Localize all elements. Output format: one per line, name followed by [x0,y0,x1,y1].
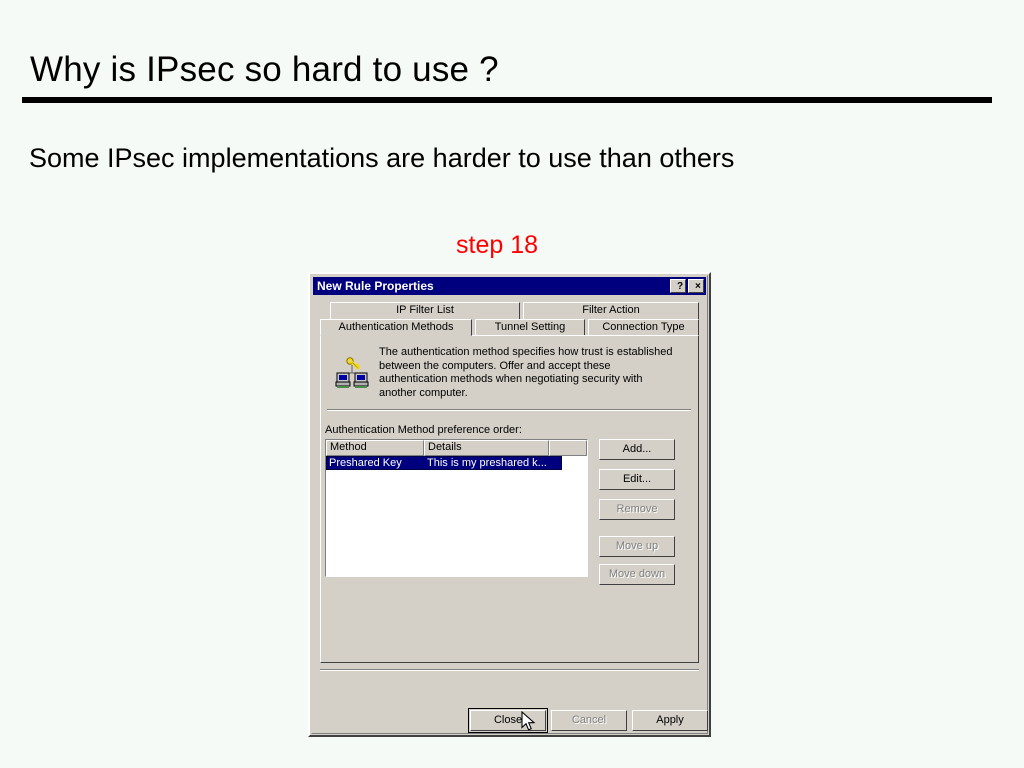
add-button[interactable]: Add... [599,439,675,460]
tab-tunnel-setting[interactable]: Tunnel Setting [475,319,585,336]
bottom-separator [320,669,699,671]
step-label: step 18 [456,231,538,260]
move-down-button[interactable]: Move down [599,564,675,585]
slide-subtitle: Some IPsec implementations are harder to… [29,143,734,174]
remove-button[interactable]: Remove [599,499,675,520]
close-button[interactable]: Close [470,710,546,731]
dialog-title-text: New Rule Properties [317,279,434,293]
tab-filter-action[interactable]: Filter Action [523,302,699,319]
table-row[interactable]: Preshared Key This is my preshared k... [326,456,562,470]
tab-connection-type[interactable]: Connection Type [588,319,699,336]
page-title: Why is IPsec so hard to use ? [30,50,499,90]
cell-method: Preshared Key [326,456,424,470]
edit-button[interactable]: Edit... [599,469,675,490]
column-header-method[interactable]: Method [326,440,424,456]
move-up-button[interactable]: Move up [599,536,675,557]
new-rule-properties-dialog: New Rule Properties ? × IP Filter List F… [308,272,711,737]
description-area: The authentication method specifies how … [335,346,685,400]
tabstrip: IP Filter List Filter Action Authenticat… [320,302,699,336]
column-header-details[interactable]: Details [424,440,549,456]
two-computers-with-key-icon [335,356,369,390]
title-divider [22,97,992,103]
dialog-titlebar[interactable]: New Rule Properties ? × [313,277,706,295]
description-separator [327,409,691,411]
listview-header: Method Details [326,440,587,456]
description-text: The authentication method specifies how … [379,346,679,400]
authentication-method-listview[interactable]: Method Details Preshared Key This is my … [325,439,588,577]
help-icon[interactable]: ? [670,279,686,293]
tab-page-authentication-methods: The authentication method specifies how … [320,335,699,663]
titlebar-button-group: ? × [670,279,704,293]
column-header-blank[interactable] [549,440,587,456]
cancel-button[interactable]: Cancel [551,710,627,731]
apply-button[interactable]: Apply [632,710,708,731]
tab-row-bottom: Authentication Methods Tunnel Setting Co… [320,319,699,336]
tab-authentication-methods[interactable]: Authentication Methods [320,319,472,336]
tab-ip-filter-list[interactable]: IP Filter List [330,302,520,319]
list-label: Authentication Method preference order: [325,424,522,436]
tab-row-top: IP Filter List Filter Action [320,302,699,319]
cell-details: This is my preshared k... [424,456,562,470]
close-icon[interactable]: × [688,279,704,293]
